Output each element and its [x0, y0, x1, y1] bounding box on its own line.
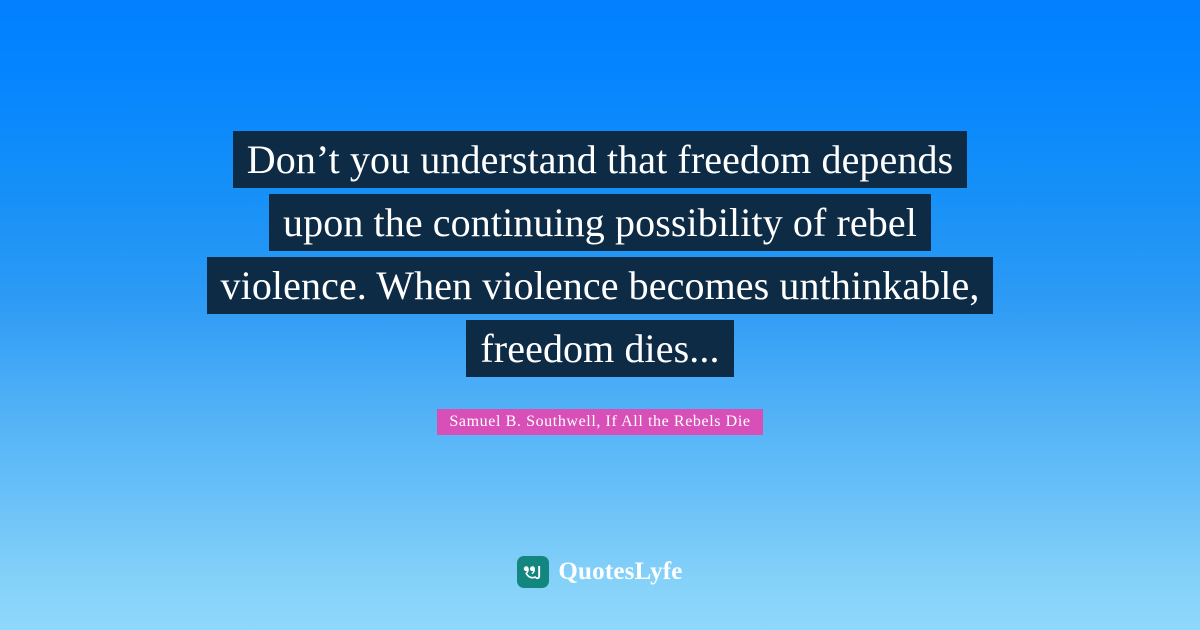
brand-logo[interactable]: QuotesLyfe — [0, 556, 1200, 588]
quote-smiley-icon — [517, 556, 549, 588]
quote-text-block: Don’t you understand that freedom depend… — [0, 131, 1200, 383]
quote-line: freedom dies... — [466, 320, 733, 377]
attribution-block: Samuel B. Southwell, If All the Rebels D… — [0, 409, 1200, 435]
quote-line: violence. When violence becomes unthinka… — [207, 257, 994, 314]
quote-card: Don’t you understand that freedom depend… — [0, 0, 1200, 630]
quote-line: Don’t you understand that freedom depend… — [233, 131, 968, 188]
brand-name: QuotesLyfe — [558, 557, 682, 587]
quote-attribution: Samuel B. Southwell, If All the Rebels D… — [437, 409, 762, 435]
quote-line: upon the continuing possibility of rebel — [269, 194, 931, 251]
